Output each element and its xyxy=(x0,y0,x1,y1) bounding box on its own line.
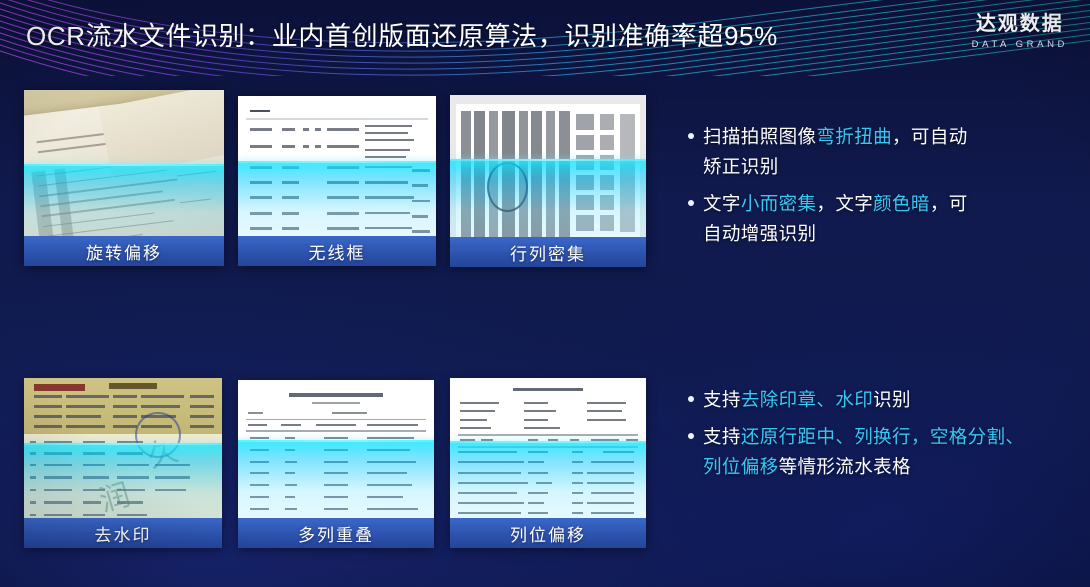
plain-text: 等情形流水表格 xyxy=(779,456,911,477)
card-caption: 列位偏移 xyxy=(450,518,646,548)
feature-list-top: 扫描拍照图像弯折扭曲，可自动矫正识别文字小而密集，文字颜色暗，可自动增强识别 xyxy=(688,122,1068,256)
plain-text: 自动增强识别 xyxy=(703,223,816,244)
sample-card-borderless[interactable]: 无线框 xyxy=(238,96,436,266)
plain-text: ，可自动 xyxy=(892,126,968,147)
plain-text: ，文字 xyxy=(816,193,873,214)
stamp-mark xyxy=(487,162,528,212)
plain-text: ，可 xyxy=(930,193,968,214)
plain-text: 识别 xyxy=(873,389,911,410)
card-caption: 去水印 xyxy=(24,518,222,548)
highlight-keyword: 弯折扭曲 xyxy=(816,126,892,147)
card-caption: 行列密集 xyxy=(450,237,646,267)
logo-text-en: DATA GRAND xyxy=(972,39,1068,50)
feature-bullet-text: 扫描拍照图像弯折扭曲，可自动矫正识别 xyxy=(703,122,968,182)
plain-text: 矫正识别 xyxy=(703,156,779,177)
feature-bullet: 扫描拍照图像弯折扭曲，可自动矫正识别 xyxy=(688,122,1068,182)
plain-text: 扫描拍照图像 xyxy=(703,126,816,147)
page-title: OCR流水文件识别：业内首创版面还原算法，识别准确率超95% xyxy=(26,16,778,53)
highlight-keyword: 列位偏移 xyxy=(703,456,779,477)
highlight-keyword: 去除印章、水印 xyxy=(741,389,873,410)
feature-bullet-text: 支持还原行距中、列换行，空格分割、列位偏移等情形流水表格 xyxy=(703,422,1024,482)
plain-text: 支持 xyxy=(703,389,741,410)
highlight-keyword: 颜色暗 xyxy=(873,193,930,214)
feature-bullet-text: 文字小而密集，文字颜色暗，可自动增强识别 xyxy=(703,189,968,249)
feature-list-bottom: 支持去除印章、水印识别支持还原行距中、列换行，空格分割、列位偏移等情形流水表格 xyxy=(688,385,1073,489)
highlight-keyword: 还原行距中、列换行，空格分割、 xyxy=(741,426,1025,447)
plain-text: 文字 xyxy=(703,193,741,214)
sample-card-watermark[interactable]: 久 润 去水印 xyxy=(24,378,222,548)
feature-bullet: 支持还原行距中、列换行，空格分割、列位偏移等情形流水表格 xyxy=(688,422,1073,482)
card-caption: 多列重叠 xyxy=(238,518,434,548)
feature-bullet: 支持去除印章、水印识别 xyxy=(688,385,1073,415)
sample-card-overlap[interactable]: 多列重叠 xyxy=(238,380,434,548)
sample-card-dense[interactable]: 行列密集 xyxy=(450,95,646,267)
bullet-dot-icon xyxy=(688,133,694,139)
sample-card-rotation[interactable]: 旋转偏移 xyxy=(24,90,224,266)
highlight-keyword: 小而密集 xyxy=(741,193,817,214)
logo-text-cn: 达观数据 xyxy=(972,13,1068,36)
feature-bullet-text: 支持去除印章、水印识别 xyxy=(703,385,911,415)
slide-root: OCR流水文件识别：业内首创版面还原算法，识别准确率超95% 达观数据 DATA… xyxy=(0,0,1090,587)
bullet-dot-icon xyxy=(688,200,694,206)
sample-card-shift[interactable]: 列位偏移 xyxy=(450,378,646,548)
bullet-dot-icon xyxy=(688,433,694,439)
bullet-dot-icon xyxy=(688,396,694,402)
plain-text: 支持 xyxy=(703,426,741,447)
feature-bullet: 文字小而密集，文字颜色暗，可自动增强识别 xyxy=(688,189,1068,249)
brand-logo: 达观数据 DATA GRAND xyxy=(972,13,1068,50)
card-caption: 无线框 xyxy=(238,236,436,266)
card-caption: 旋转偏移 xyxy=(24,236,224,266)
